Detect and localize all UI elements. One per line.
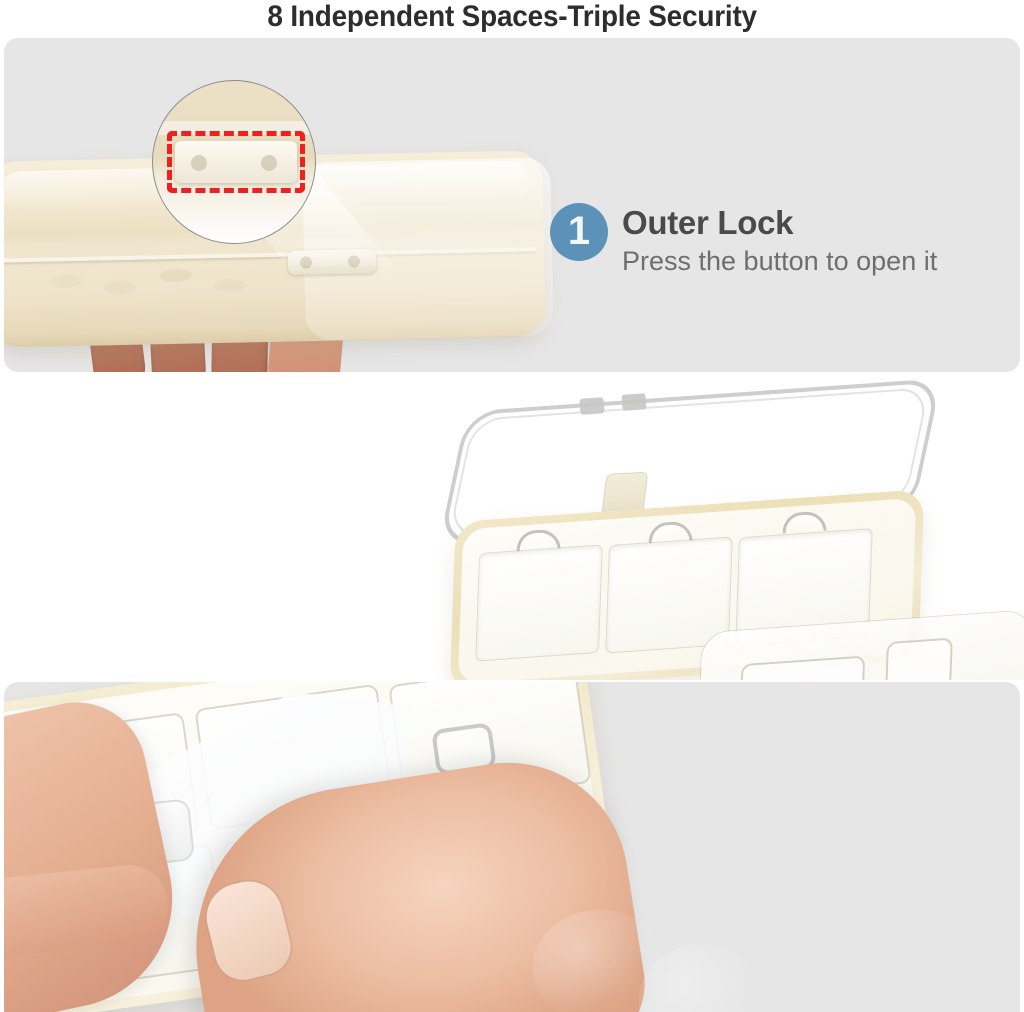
- product-photo-peeling-sheet: [4, 682, 1020, 1012]
- red-dashed-highlight-box: [167, 131, 305, 193]
- step-number-badge-1: 1: [550, 203, 608, 261]
- feature-text-1: Outer Lock Press the button to open it: [622, 203, 937, 278]
- compartment: [887, 640, 950, 680]
- feature-panel-silicone-loop: 2 Silicone Loop Keeps Moisture Off: [0, 374, 1024, 680]
- feature-heading-1: Outer Lock: [622, 204, 937, 242]
- feature-subheading-1: Press the button to open it: [622, 244, 937, 278]
- lid-hinge-icon: [579, 397, 604, 415]
- magnifier-circle: [152, 80, 316, 244]
- page-title: 8 Independent Spaces-Triple Security: [267, 0, 756, 34]
- compartment: [606, 537, 731, 652]
- lid-hinge-icon: [621, 393, 646, 411]
- feature-caption-1: 1 Outer Lock Press the button to open it: [550, 203, 937, 278]
- page-title-bar: 8 Independent Spaces-Triple Security: [0, 0, 1024, 36]
- pills-inside-box: [43, 252, 277, 320]
- feature-panel-silicone-sheet: 3 Silicone Sheet For Easy Opening: [4, 682, 1020, 1012]
- product-photo-open-box: [0, 374, 1024, 680]
- feature-panel-outer-lock: 1 Outer Lock Press the button to open it: [4, 38, 1020, 372]
- compartment: [476, 545, 601, 660]
